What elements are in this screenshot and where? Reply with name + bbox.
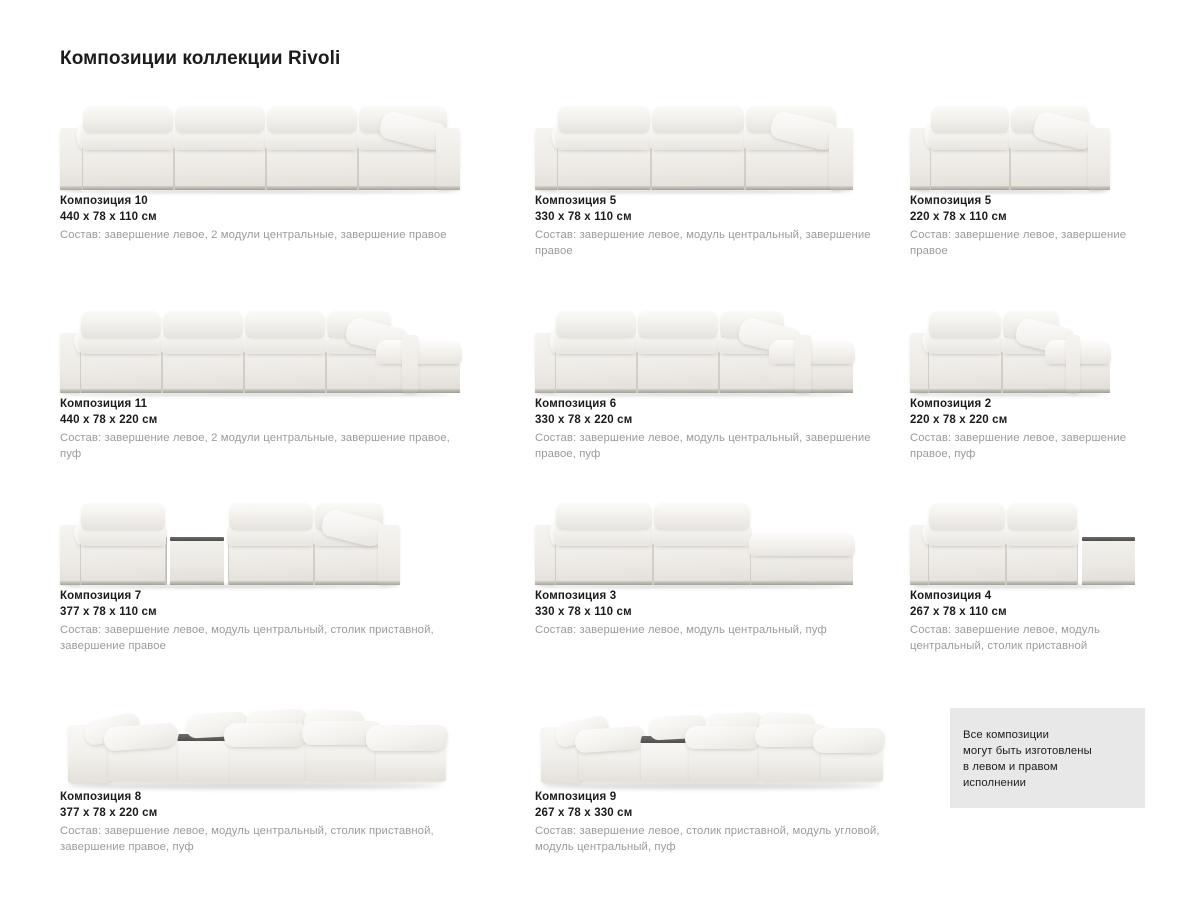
composition-card-kompoziciya-9[interactable]: Композиция 9 267 x 78 x 330 см Состав: з…: [535, 679, 910, 879]
composition-caption: Композиция 7 377 x 78 x 110 см Состав: з…: [60, 588, 535, 654]
composition-caption: Композиция 9 267 x 78 x 330 см Состав: з…: [535, 789, 910, 855]
sofa-illustration: [60, 301, 460, 396]
composition-title: Композиция 5: [910, 193, 1145, 209]
module-center: [653, 503, 751, 585]
composition-figure: [535, 679, 910, 789]
composition-dimensions: 377 x 78 x 110 см: [60, 604, 535, 620]
composition-figure: [60, 88, 535, 193]
sofa-illustration: [535, 496, 853, 588]
composition-dimensions: 330 x 78 x 110 см: [535, 209, 910, 225]
composition-card-kompoziciya-10[interactable]: Композиция 10 440 x 78 x 110 см Состав: …: [60, 88, 535, 288]
composition-figure: [60, 679, 535, 789]
module-end-left: [928, 503, 1006, 585]
sofa-illustration: [910, 101, 1110, 193]
arm-right: [436, 128, 460, 190]
catalog-page: Композиции коллекции Rivoli: [0, 0, 1200, 900]
composition-card-kompoziciya-2[interactable]: Композиция 2 220 x 78 x 220 см Состав: з…: [910, 288, 1145, 483]
composition-description: Состав: завершение левое, модуль централ…: [60, 823, 455, 855]
module-center-1: [162, 311, 244, 393]
composition-title: Композиция 9: [535, 789, 910, 805]
sofa-illustration: [535, 101, 853, 193]
info-note-text: Все композиции могут быть изготовлены в …: [963, 727, 1138, 791]
arm-right: [795, 335, 811, 393]
composition-card-kompoziciya-8[interactable]: Композиция 8 377 x 78 x 220 см Состав: з…: [60, 679, 535, 879]
sofa-illustration: [910, 496, 1135, 588]
composition-card-kompoziciya-3[interactable]: Композиция 3 330 x 78 x 110 см Состав: з…: [535, 483, 910, 679]
page-title: Композиции коллекции Rivoli: [60, 48, 340, 70]
arm-right: [829, 128, 853, 190]
composition-dimensions: 220 x 78 x 110 см: [910, 209, 1145, 225]
composition-dimensions: 440 x 78 x 110 см: [60, 209, 535, 225]
composition-description: Состав: завершение левое, завершение пра…: [910, 227, 1142, 259]
module-center: [651, 106, 745, 190]
module-center-1: [174, 106, 266, 190]
composition-description: Состав: завершение левое, модуль централ…: [60, 622, 455, 654]
sofa-illustration: [910, 301, 1110, 396]
grid-row: Композиция 11 440 x 78 x 220 см Состав: …: [60, 288, 1145, 483]
composition-title: Композиция 6: [535, 396, 910, 412]
composition-description: Состав: завершение левое, модуль централ…: [910, 622, 1142, 654]
module-center: [637, 311, 719, 393]
module-end-left: [555, 311, 637, 393]
composition-title: Композиция 10: [60, 193, 535, 209]
module-side-table: [641, 741, 693, 781]
sofa-illustration: [60, 101, 460, 193]
composition-figure: [60, 288, 535, 396]
module-center-2: [266, 106, 358, 190]
composition-description: Состав: завершение левое, столик пристав…: [535, 823, 890, 855]
composition-figure: [910, 288, 1145, 396]
module-ottoman: [378, 337, 460, 393]
arm-right: [378, 525, 400, 585]
composition-description: Состав: завершение левое, модуль централ…: [535, 622, 890, 638]
composition-title: Композиция 3: [535, 588, 910, 604]
arm-right: [402, 335, 418, 393]
composition-figure: [910, 483, 1145, 588]
arm-right: [1066, 335, 1080, 393]
module-ottoman: [771, 337, 853, 393]
composition-caption: Композиция 11 440 x 78 x 220 см Состав: …: [60, 396, 535, 462]
module-center: [1006, 503, 1078, 585]
composition-figure: [535, 288, 910, 396]
sofa-illustration: [60, 496, 400, 588]
module-end-left: [928, 311, 1002, 393]
composition-dimensions: 377 x 78 x 220 см: [60, 805, 535, 821]
module-side-table: [178, 739, 234, 781]
composition-title: Композиция 2: [910, 396, 1145, 412]
sofa-illustration: [60, 689, 450, 789]
composition-caption: Композиция 6 330 x 78 x 220 см Состав: з…: [535, 396, 910, 462]
module-end-left: [930, 106, 1010, 190]
composition-title: Композиция 8: [60, 789, 535, 805]
module-seam: [166, 537, 167, 585]
composition-card-kompoziciya-6[interactable]: Композиция 6 330 x 78 x 220 см Состав: з…: [535, 288, 910, 483]
module-end-left: [557, 106, 651, 190]
composition-dimensions: 267 x 78 x 330 см: [535, 805, 910, 821]
composition-card-kompoziciya-11[interactable]: Композиция 11 440 x 78 x 220 см Состав: …: [60, 288, 535, 483]
sofa-illustration: [535, 301, 853, 396]
module-center-2: [244, 311, 326, 393]
composition-description: Состав: завершение левое, 2 модули центр…: [60, 227, 455, 243]
composition-description: Состав: завершение левое, модуль централ…: [535, 227, 890, 259]
module-side-table: [1082, 535, 1135, 585]
composition-dimensions: 330 x 78 x 110 см: [535, 604, 910, 620]
composition-dimensions: 267 x 78 x 110 см: [910, 604, 1145, 620]
arm-right: [1088, 128, 1110, 190]
module-end-left: [555, 503, 653, 585]
module-end-left: [82, 106, 174, 190]
info-note-box: Все композиции могут быть изготовлены в …: [950, 708, 1145, 808]
module-center: [228, 503, 314, 585]
composition-title: Композиция 4: [910, 588, 1145, 604]
composition-card-kompoziciya-4[interactable]: Композиция 4 267 x 78 x 110 см Состав: з…: [910, 483, 1145, 679]
composition-card-kompoziciya-5-220[interactable]: Композиция 5 220 x 78 x 110 см Состав: з…: [910, 88, 1145, 288]
module-end-left: [80, 503, 166, 585]
ottoman-cushion: [366, 725, 448, 751]
composition-caption: Композиция 2 220 x 78 x 220 см Состав: з…: [910, 396, 1145, 462]
composition-caption: Композиция 8 377 x 78 x 220 см Состав: з…: [60, 789, 535, 855]
composition-title: Композиция 11: [60, 396, 535, 412]
composition-caption: Композиция 4 267 x 78 x 110 см Состав: з…: [910, 588, 1145, 654]
composition-figure: [535, 88, 910, 193]
module-ottoman: [751, 529, 853, 585]
composition-description: Состав: завершение левое, модуль централ…: [535, 430, 890, 462]
module-end-left: [80, 311, 162, 393]
composition-caption: Композиция 3 330 x 78 x 110 см Состав: з…: [535, 588, 910, 638]
composition-caption: Композиция 5 330 x 78 x 110 см Состав: з…: [535, 193, 910, 259]
composition-title: Композиция 5: [535, 193, 910, 209]
composition-caption: Композиция 10 440 x 78 x 110 см Состав: …: [60, 193, 535, 243]
composition-description: Состав: завершение левое, завершение пра…: [910, 430, 1142, 462]
composition-dimensions: 330 x 78 x 220 см: [535, 412, 910, 428]
grid-row: Композиция 10 440 x 78 x 110 см Состав: …: [60, 88, 1145, 288]
ottoman-cushion: [813, 728, 885, 753]
composition-figure: [535, 483, 910, 588]
module-side-table: [170, 535, 224, 585]
grid-row: Композиция 7 377 x 78 x 110 см Состав: з…: [60, 483, 1145, 679]
composition-card-kompoziciya-5-330[interactable]: Композиция 5 330 x 78 x 110 см Состав: з…: [535, 88, 910, 288]
sofa-illustration: [535, 689, 885, 789]
composition-card-kompoziciya-7[interactable]: Композиция 7 377 x 78 x 110 см Состав: з…: [60, 483, 535, 679]
composition-title: Композиция 7: [60, 588, 535, 604]
seat-cushion-center: [685, 726, 763, 749]
composition-dimensions: 440 x 78 x 220 см: [60, 412, 535, 428]
composition-figure: [910, 88, 1145, 193]
composition-figure: [60, 483, 535, 588]
seat-cushion-center: [224, 723, 308, 747]
composition-dimensions: 220 x 78 x 220 см: [910, 412, 1145, 428]
composition-caption: Композиция 5 220 x 78 x 110 см Состав: з…: [910, 193, 1145, 259]
composition-description: Состав: завершение левое, 2 модули центр…: [60, 430, 455, 462]
